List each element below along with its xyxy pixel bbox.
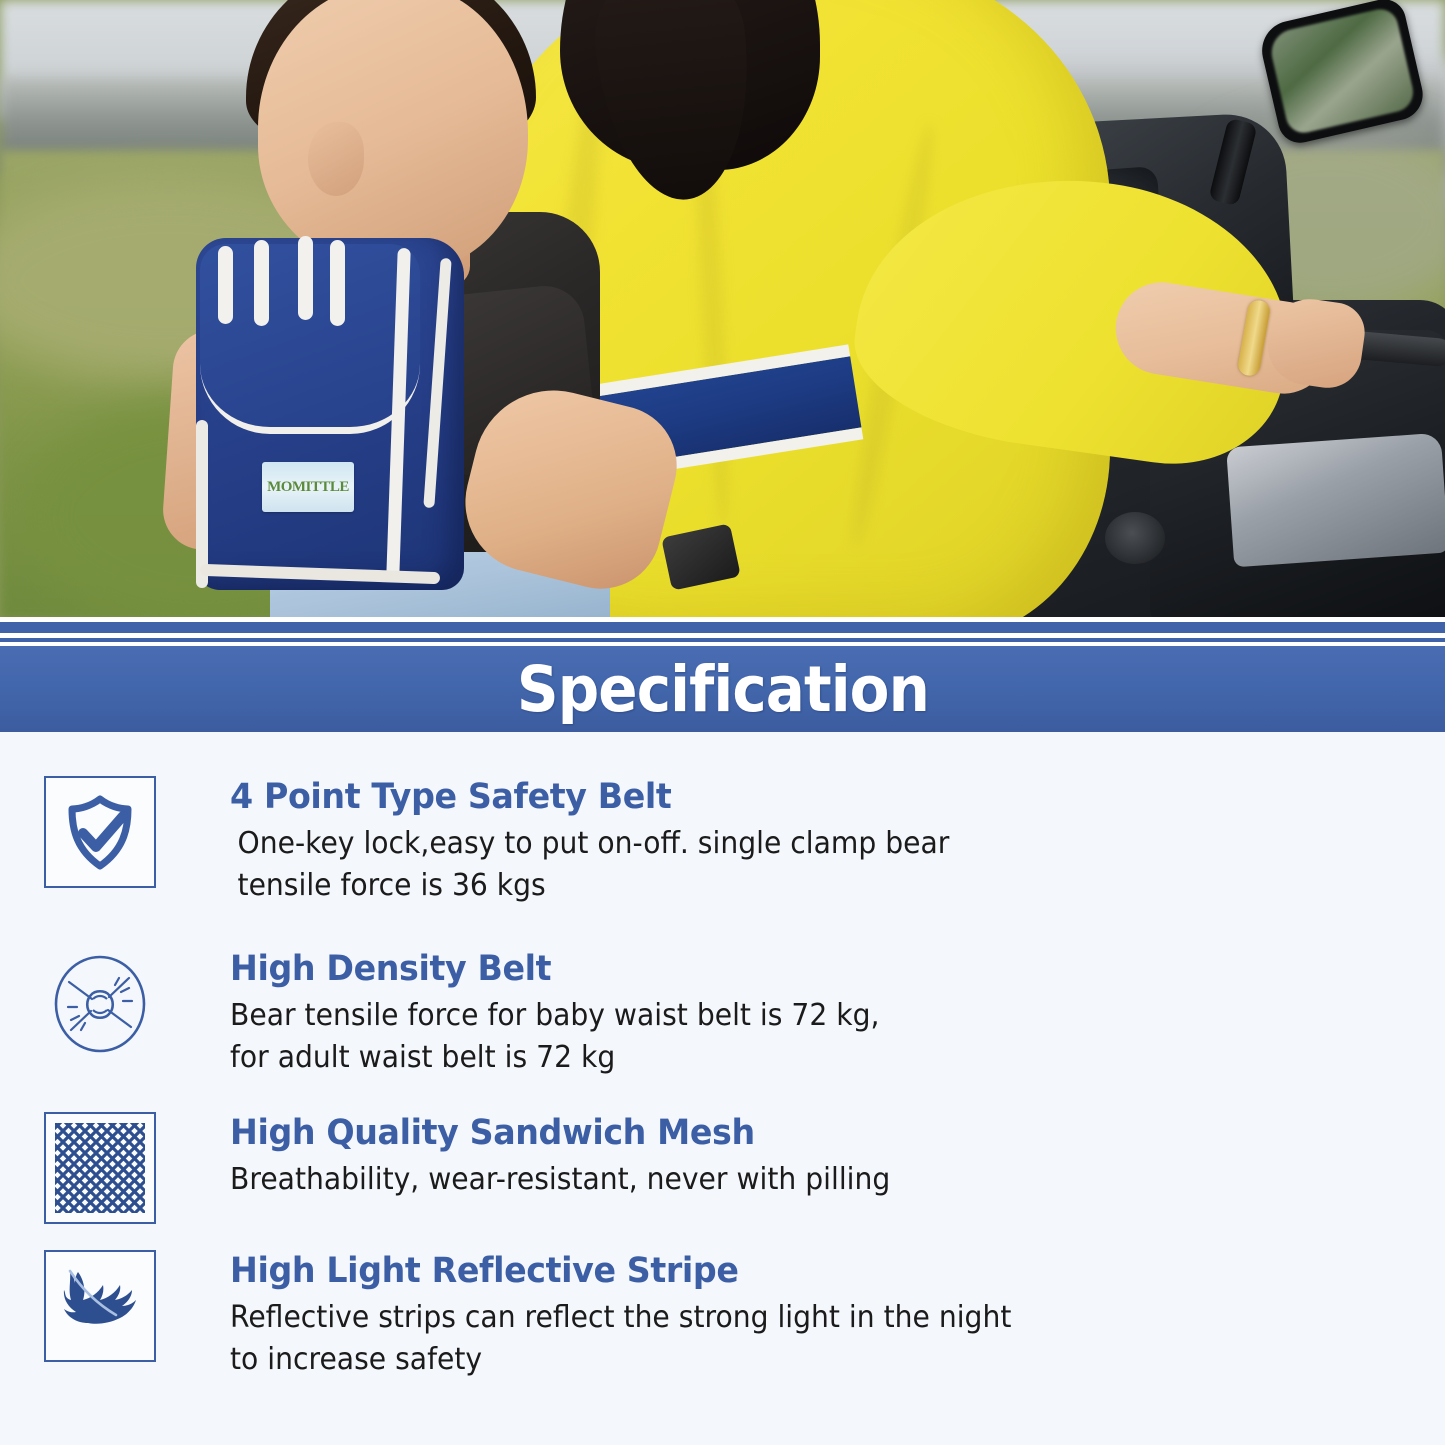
feather-icon-svg bbox=[54, 1260, 146, 1352]
feature-text-block: High Density Belt Bear tensile force for… bbox=[156, 948, 921, 1078]
feature-heading: High Density Belt bbox=[230, 950, 886, 989]
page-title: Specification bbox=[516, 653, 928, 726]
fiber-knot-icon-svg bbox=[47, 951, 153, 1057]
fiber-knot-icon bbox=[44, 948, 156, 1060]
feature-item-sandwich-mesh: High Quality Sandwich Mesh Breathability… bbox=[44, 1112, 1404, 1224]
vest-shoulder-strap bbox=[254, 240, 269, 326]
feature-body: Bear tensile force for baby waist belt i… bbox=[230, 995, 879, 1078]
mesh-grid-icon bbox=[44, 1112, 156, 1224]
divider-stripe-thin bbox=[0, 638, 1445, 642]
feature-item-high-density-belt: High Density Belt Bear tensile force for… bbox=[44, 948, 1404, 1078]
feature-heading: High Quality Sandwich Mesh bbox=[230, 1114, 897, 1153]
vest-reflective-edge bbox=[196, 420, 208, 588]
scooter-ignition bbox=[1105, 512, 1165, 564]
section-divider bbox=[0, 617, 1445, 646]
feature-item-reflective-stripe: High Light Reflective Stripe Reflective … bbox=[44, 1250, 1404, 1380]
feature-body: Breathability, wear-resistant, never wit… bbox=[230, 1159, 890, 1200]
brand-label: MOMITTLE bbox=[262, 462, 354, 512]
feature-list: 4 Point Type Safety Belt One-key lock,ea… bbox=[0, 732, 1445, 1445]
scooter-chrome-trim bbox=[1226, 433, 1445, 568]
feature-item-safety-belt: 4 Point Type Safety Belt One-key lock,ea… bbox=[44, 776, 1404, 906]
divider-stripe-thick bbox=[0, 622, 1445, 633]
vest-shoulder-strap bbox=[218, 246, 233, 324]
brand-label-text: MOMITTLE bbox=[267, 479, 349, 496]
product-spec-page: MOMITTLE Specification 4 Point Type Safe… bbox=[0, 0, 1445, 1445]
vest-shoulder-strap bbox=[298, 236, 313, 320]
shield-check-icon bbox=[44, 776, 156, 888]
feature-heading: High Light Reflective Stripe bbox=[230, 1252, 1020, 1291]
feature-heading: 4 Point Type Safety Belt bbox=[230, 778, 957, 817]
child-head bbox=[258, 0, 528, 272]
product-lifestyle-photo: MOMITTLE bbox=[0, 0, 1445, 617]
feature-text-block: High Light Reflective Stripe Reflective … bbox=[156, 1250, 1061, 1380]
feature-body: One-key lock,easy to put on-off. single … bbox=[230, 823, 949, 906]
feature-body: Reflective strips can reflect the strong… bbox=[230, 1297, 1011, 1380]
feature-text-block: High Quality Sandwich Mesh Breathability… bbox=[156, 1112, 932, 1224]
child-ear bbox=[308, 122, 364, 196]
feather-icon bbox=[44, 1250, 156, 1362]
vest-shoulder-strap bbox=[330, 240, 345, 326]
mirror-glass bbox=[1267, 6, 1417, 137]
specification-banner: Specification bbox=[0, 646, 1445, 732]
mesh-grid-icon-svg bbox=[52, 1120, 148, 1216]
feature-text-block: 4 Point Type Safety Belt One-key lock,ea… bbox=[156, 776, 995, 906]
shield-check-icon-svg bbox=[58, 790, 142, 874]
